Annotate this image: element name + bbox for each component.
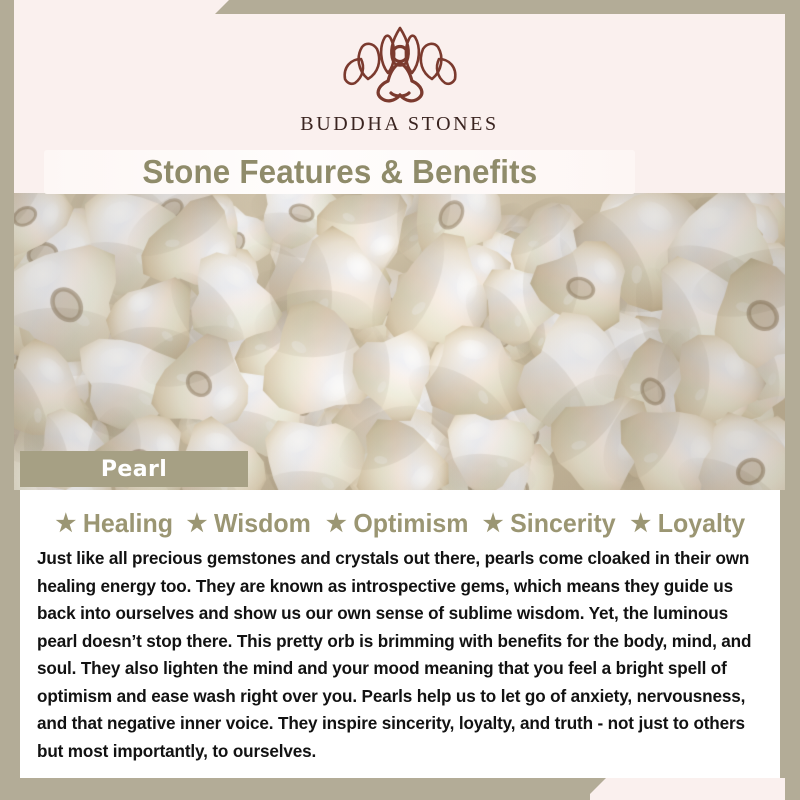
benefit-keyword-loyalty: ★Loyalty (630, 508, 745, 539)
stone-name-bar: Pearl (20, 451, 248, 487)
benefit-keyword-sincerity: ★Sincerity (483, 508, 616, 539)
benefit-keyword-label: Loyalty (657, 508, 744, 539)
page-title: Stone Features & Benefits (142, 153, 537, 191)
stone-name-label: Pearl (20, 457, 248, 482)
benefit-keyword-label: Wisdom (214, 508, 311, 539)
benefit-keywords: ★Healing★Wisdom★Optimism★Sincerity★Loyal… (34, 508, 766, 539)
page-title-strip: Stone Features & Benefits (44, 150, 635, 194)
frame-notch-bottom-right (590, 778, 800, 800)
frame-notch-top-left (0, 0, 230, 14)
star-icon: ★ (483, 512, 504, 536)
brand-logo: BUDDHA STONES (300, 23, 498, 136)
star-icon: ★ (630, 512, 651, 536)
content-panel: ★Healing★Wisdom★Optimism★Sincerity★Loyal… (20, 490, 780, 778)
decor-band-top (215, 0, 800, 14)
star-icon: ★ (55, 512, 76, 536)
brand-name: BUDDHA STONES (300, 113, 498, 136)
poster-root: BUDDHA STONES Stone Features & Benefits … (0, 0, 800, 800)
benefit-keyword-label: Sincerity (510, 508, 615, 539)
star-icon: ★ (326, 512, 347, 536)
benefit-keyword-wisdom: ★Wisdom (187, 508, 311, 539)
stone-photo (0, 193, 786, 490)
frame-edge-left (0, 0, 14, 800)
benefit-keyword-label: Healing (83, 508, 173, 539)
benefit-keyword-label: Optimism (353, 508, 468, 539)
decor-band-bottom (0, 778, 606, 800)
header-panel: BUDDHA STONES Stone Features & Benefits (14, 14, 785, 193)
lotus-meditation-figure-icon (325, 23, 475, 109)
pearl-photo-canvas (0, 193, 786, 490)
stone-description: Just like all precious gemstones and cry… (37, 545, 752, 765)
benefit-keyword-optimism: ★Optimism (326, 508, 469, 539)
frame-edge-right (785, 0, 800, 800)
benefit-keyword-healing: ★Healing (55, 508, 173, 539)
star-icon: ★ (187, 512, 208, 536)
